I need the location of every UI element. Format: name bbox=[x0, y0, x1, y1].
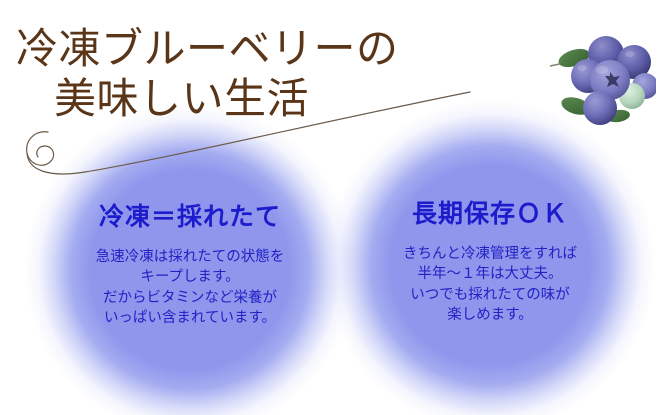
blueberry-promo-banner: 冷凍ブルーベリーの 美味しい生活 冷凍＝採れたて 急速冷凍は採れたての状態を キ… bbox=[0, 0, 658, 415]
berry-highlight-3 bbox=[625, 51, 635, 57]
berry-front-bottom bbox=[583, 91, 617, 125]
title-line-1: 冷凍ブルーベリーの bbox=[16, 28, 399, 70]
blueberry-cluster-icon bbox=[548, 14, 656, 126]
sweeping-line-path bbox=[27, 92, 470, 174]
berry-highlight-1 bbox=[596, 66, 608, 74]
spiral-curl-path bbox=[27, 132, 54, 165]
berry-highlight-2 bbox=[577, 65, 587, 71]
